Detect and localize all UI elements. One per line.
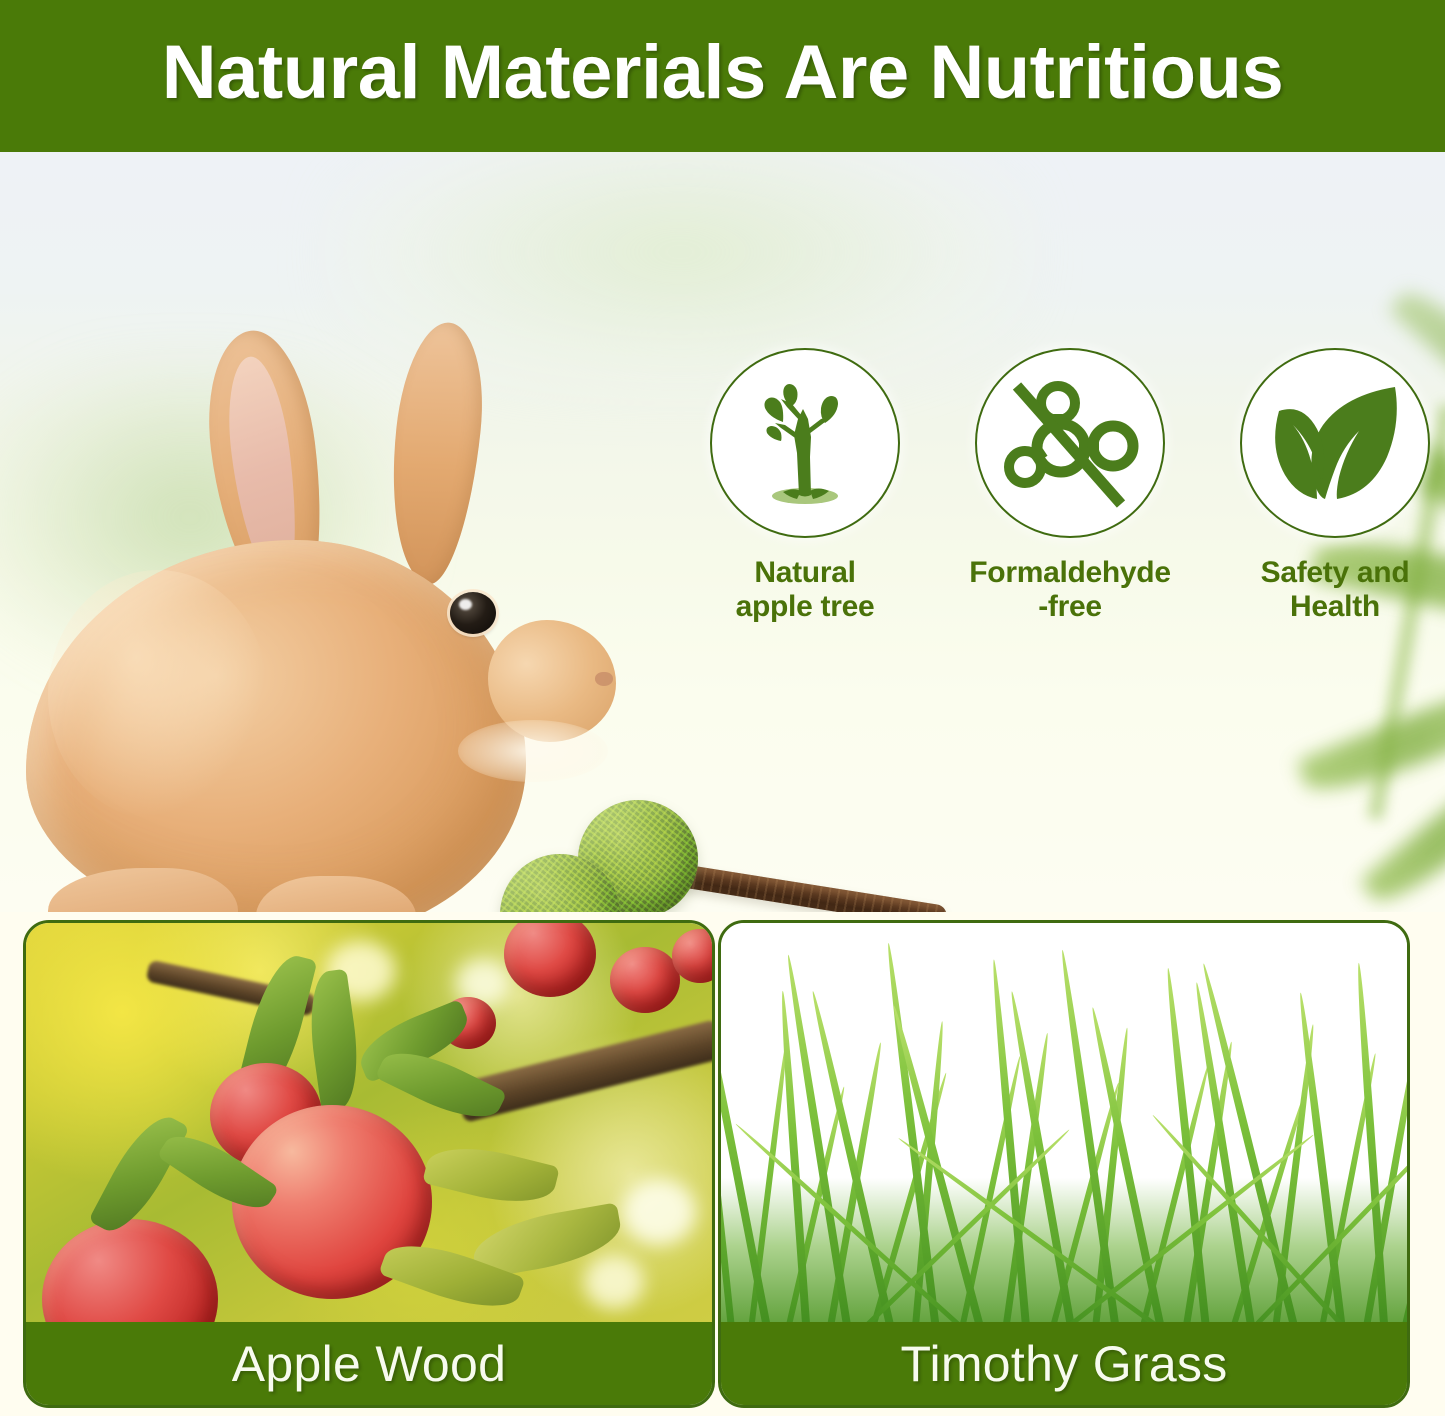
page-title: Natural Materials Are Nutritious [162, 35, 1283, 117]
apple-orchard-photo [26, 923, 712, 1328]
badge-label: Natural apple tree [736, 556, 875, 624]
rabbit-highlight [48, 570, 268, 820]
two-leaves-icon [1267, 381, 1403, 505]
badge-label-line1: Natural [736, 556, 875, 590]
badge-label: Safety and Health [1261, 556, 1410, 624]
apple-fruit [610, 947, 680, 1013]
apple-fruit [42, 1219, 218, 1328]
bokeh-highlight [622, 1179, 696, 1245]
hero-section: Natural apple tree [0, 152, 1445, 912]
badge-label-line2: -free [969, 590, 1170, 624]
rabbit-chin [458, 720, 608, 782]
feature-badges: Natural apple tree [700, 348, 1440, 648]
badge-label-line1: Formaldehyde [969, 556, 1170, 590]
badge-label-line2: apple tree [736, 590, 875, 624]
badge-safety-and-health: Safety and Health [1230, 348, 1440, 648]
badge-circle [1240, 348, 1430, 538]
stick-grain-texture [666, 862, 948, 912]
product-infographic: Natural Materials Are Nutritious [0, 0, 1445, 1416]
panel-caption-apple-wood: Apple Wood [26, 1322, 712, 1405]
no-molecule-icon [995, 368, 1145, 518]
badge-formaldehyde-free: Formaldehyde -free [965, 348, 1175, 648]
badge-circle [975, 348, 1165, 538]
timothy-grass-photo [721, 923, 1407, 1328]
panel-caption-text: Timothy Grass [900, 1335, 1227, 1393]
panel-caption-timothy-grass: Timothy Grass [721, 1322, 1407, 1405]
apple-leaf [422, 1136, 560, 1214]
badge-label-line2: Health [1261, 590, 1410, 624]
bamboo-leaf-decoration [1296, 666, 1445, 806]
panel-timothy-grass: Timothy Grass [718, 920, 1410, 1408]
badge-natural-apple-tree: Natural apple tree [700, 348, 910, 648]
badge-circle [710, 348, 900, 538]
rabbit-nose [595, 672, 613, 686]
rabbit-eye-glint [459, 599, 472, 610]
header-banner: Natural Materials Are Nutritious [0, 0, 1445, 152]
apple-fruit [504, 923, 596, 997]
bokeh-highlight [584, 1255, 644, 1309]
badge-label-line1: Safety and [1261, 556, 1410, 590]
product-items [480, 792, 980, 912]
tree-icon [745, 379, 865, 507]
panel-caption-text: Apple Wood [232, 1335, 506, 1393]
badge-label: Formaldehyde -free [969, 556, 1170, 624]
panel-apple-wood: Apple Wood [23, 920, 715, 1408]
rabbit-eye [450, 592, 496, 634]
